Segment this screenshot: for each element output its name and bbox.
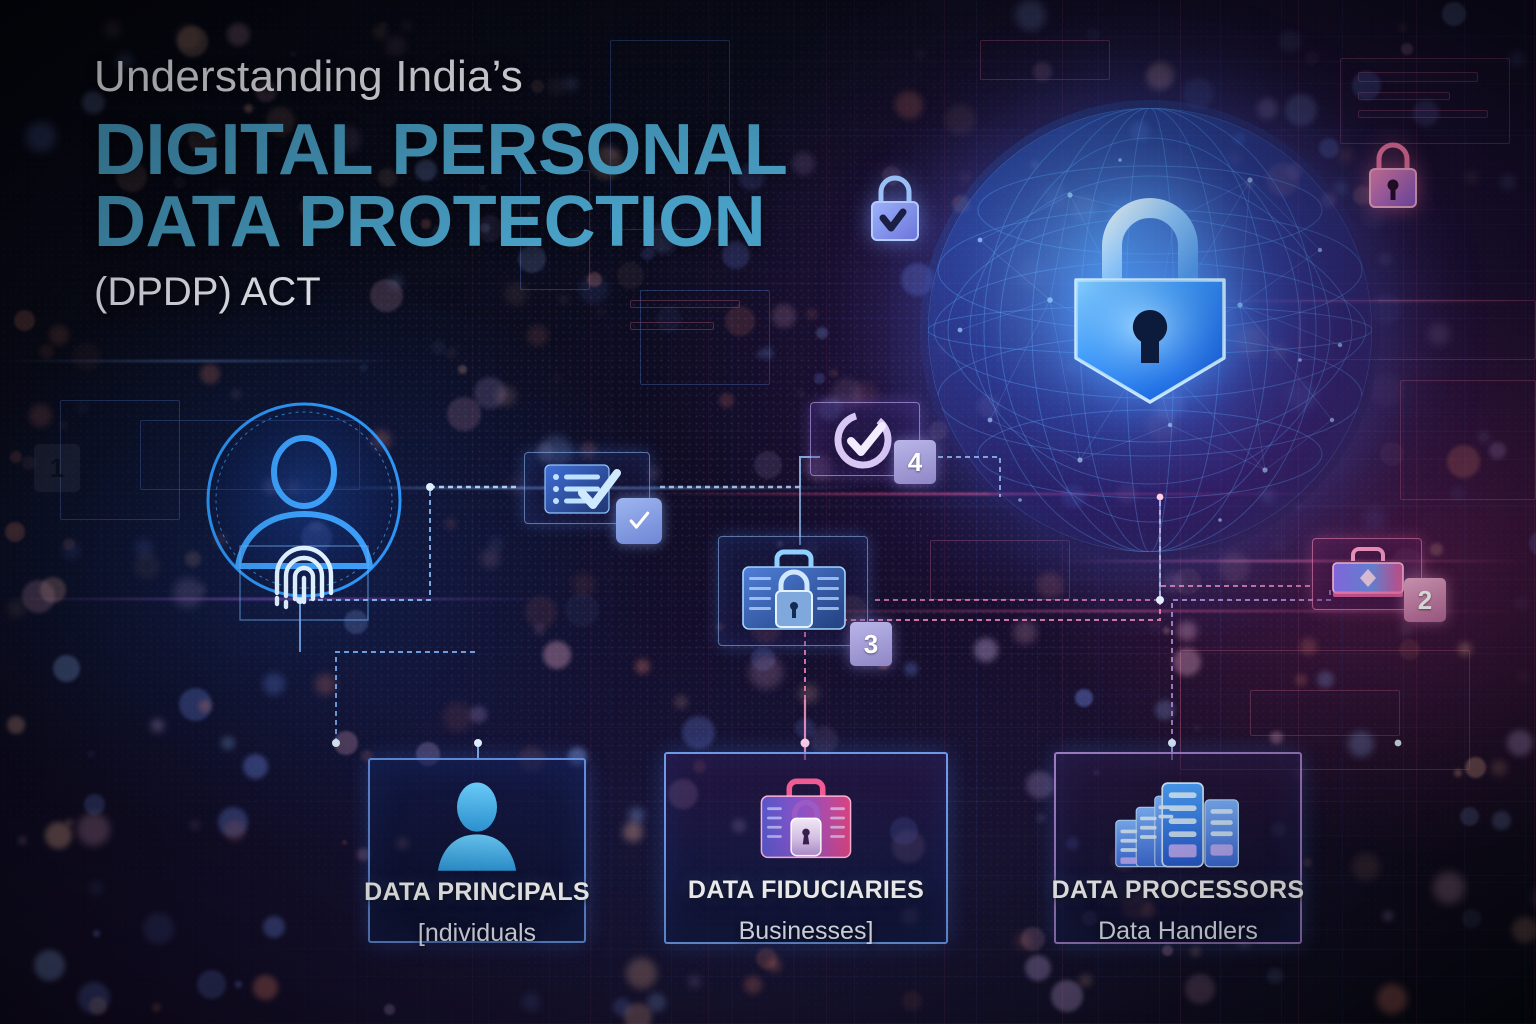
- title-headline-line1: DIGITAL PERSONAL: [94, 116, 854, 186]
- title-subline: (DPDP) ACT: [94, 270, 854, 315]
- secure-briefcase-node[interactable]: [718, 536, 868, 646]
- user-silhouette-icon: [427, 778, 527, 878]
- title-eyebrow: Understanding India’s: [94, 52, 854, 102]
- node-badge-2: 2: [1404, 578, 1446, 622]
- identity-node[interactable]: [196, 396, 416, 626]
- node-badge-4: 4: [894, 440, 936, 484]
- infographic-canvas: 1 4: [0, 0, 1536, 1024]
- check-badge-icon: [616, 498, 662, 544]
- card-subtitle: Businesses]: [739, 917, 874, 946]
- card-data-processors[interactable]: DATA PROCESSORS Data Handlers: [1054, 752, 1302, 944]
- title-block: Understanding India’s DIGITAL PERSONAL D…: [94, 52, 854, 315]
- card-title: DATA FIDUCIARIES: [688, 876, 924, 905]
- card-subtitle: [ndividuals: [418, 919, 536, 948]
- card-title: DATA PROCESSORS: [1052, 876, 1305, 905]
- node-badge-1: 1: [34, 444, 80, 492]
- node-badge-3: 3: [850, 622, 892, 666]
- briefcase-lock-icon: [741, 772, 871, 876]
- briefcase-lock-icon: [719, 537, 869, 647]
- card-data-fiduciaries[interactable]: DATA FIDUCIARIES Businesses]: [664, 752, 948, 944]
- server-racks-icon: [1108, 772, 1248, 876]
- title-headline-line2: DATA PROTECTION: [94, 188, 854, 258]
- card-data-principals[interactable]: DATA PRINCIPALS [ndividuals: [368, 758, 586, 943]
- card-title: DATA PRINCIPALS: [364, 878, 590, 907]
- card-subtitle: Data Handlers: [1098, 917, 1258, 946]
